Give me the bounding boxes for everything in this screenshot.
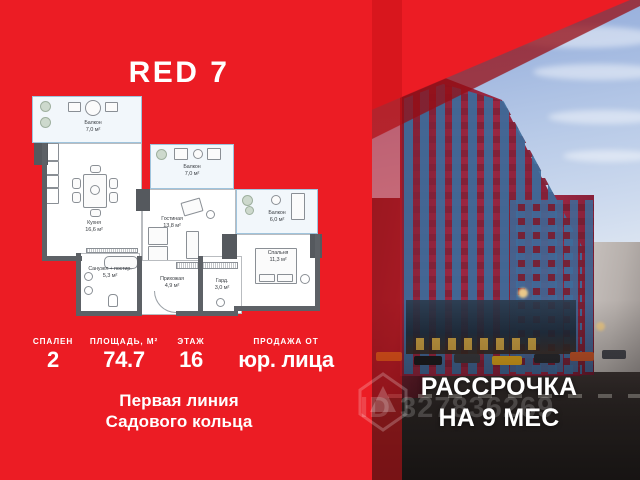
- chair-icon: [105, 102, 118, 112]
- room-label-hallway: Прихожая 4,9 м²: [146, 276, 198, 291]
- interior-wall: [198, 256, 203, 312]
- room-label-balcony-3: Балкон 6,0 м²: [250, 210, 304, 225]
- armchair-icon: [174, 148, 188, 160]
- room-area: 6,0 м²: [250, 217, 304, 225]
- room-label-wardrobe: Гард. 3,0 м²: [200, 278, 244, 293]
- chair-icon: [90, 209, 101, 217]
- fixture-icon: [216, 298, 225, 307]
- tagline: Первая линия Садового кольца: [0, 390, 358, 432]
- chair-icon: [109, 178, 118, 189]
- tv-unit-icon: [186, 231, 199, 259]
- chair-icon: [109, 192, 118, 203]
- room-name: Балкон: [165, 164, 219, 171]
- table-icon: [271, 195, 281, 205]
- interior-wall: [76, 253, 81, 315]
- plant-icon: [242, 195, 253, 206]
- room-name: Прихожая: [146, 276, 198, 283]
- toilet-icon: [108, 294, 118, 307]
- exterior-wall: [234, 306, 320, 311]
- room-area: 13,8 м²: [144, 223, 200, 231]
- interior-wall: [176, 311, 238, 316]
- wall-pillar: [222, 234, 237, 259]
- stat-floor: ЭТАЖ 16: [155, 336, 227, 372]
- room-area: 16,6 м²: [66, 227, 122, 235]
- decor-icon: [206, 210, 215, 219]
- street-lamp-glow: [518, 288, 528, 298]
- table-icon: [193, 149, 203, 159]
- stat-caption: ПРОДАЖА ОТ: [222, 336, 350, 347]
- interior-wall: [137, 256, 142, 316]
- table-icon: [85, 100, 101, 116]
- advert-canvas: RED 7 Балкон 7,0 м² Балкон 7,0 м²: [0, 0, 640, 480]
- watermark-id: ID 327836269: [360, 392, 640, 425]
- washer-icon: [84, 286, 93, 295]
- room-area: 7,0 м²: [66, 127, 120, 135]
- tagline-line-1: Первая линия: [0, 390, 358, 411]
- interior-wall: [76, 311, 142, 316]
- room-area: 5,3 м²: [84, 273, 136, 281]
- stat-value: юр. лица: [222, 347, 350, 372]
- room-name: Гостиная: [144, 216, 200, 223]
- stat-value: 16: [155, 347, 227, 372]
- room-name: Кухня: [66, 220, 122, 227]
- pillow-icon: [259, 274, 275, 282]
- room-name: Спальня: [250, 250, 306, 257]
- exterior-wall: [42, 143, 47, 261]
- left-info-panel: RED 7 Балкон 7,0 м² Балкон 7,0 м²: [0, 0, 358, 480]
- stat-seller: ПРОДАЖА ОТ юр. лица: [222, 336, 350, 372]
- chair-icon: [72, 192, 81, 203]
- room-label-kitchen: Кухня 16,6 м²: [66, 220, 122, 235]
- chair-icon: [90, 165, 101, 173]
- interior-wall: [42, 256, 82, 261]
- cabinet-icon: [46, 188, 59, 204]
- chair-icon: [72, 178, 81, 189]
- room-name: Санузел + постир.: [84, 266, 136, 273]
- stove-icon: [46, 175, 59, 188]
- room-label-bathroom: Санузел + постир. 5,3 м²: [84, 266, 136, 281]
- floor-plan: Балкон 7,0 м² Балкон 7,0 м² Балкон 6,0 м…: [26, 96, 332, 321]
- plant-icon: [40, 117, 51, 128]
- room-label-balcony-2: Балкон 7,0 м²: [165, 164, 219, 179]
- room-label-balcony-1: Балкон 7,0 м²: [66, 120, 120, 135]
- pillow-icon: [277, 274, 293, 282]
- armchair-icon: [207, 148, 221, 160]
- stat-caption: ЭТАЖ: [155, 336, 227, 347]
- room-area: 7,0 м²: [165, 171, 219, 179]
- room-name: Балкон: [66, 120, 120, 127]
- plate-icon: [90, 185, 100, 195]
- room-label-bedroom: Спальня 11,3 м²: [250, 250, 306, 265]
- stats-row: СПАЛЕН 2 ПЛОЩАДЬ, м² 74.7 ЭТАЖ 16 ПРОДАЖ…: [0, 336, 358, 382]
- room-label-living: Гостиная 13,8 м²: [144, 216, 200, 231]
- room-name: Гард.: [200, 278, 244, 285]
- brand-logo: RED 7: [0, 56, 358, 90]
- wall-pillar: [136, 189, 150, 211]
- room-area: 4,9 м²: [146, 283, 198, 291]
- nightstand-icon: [300, 274, 310, 284]
- plant-icon: [156, 149, 167, 160]
- tagline-line-2: Садового кольца: [0, 411, 358, 432]
- room-name: Балкон: [250, 210, 304, 217]
- room-area: 11,3 м²: [250, 257, 306, 265]
- exterior-wall: [315, 234, 320, 310]
- wardrobe-shelf-icon: [176, 262, 238, 269]
- room-area: 3,0 м²: [200, 285, 244, 293]
- chair-icon: [68, 102, 81, 112]
- plant-icon: [40, 101, 51, 112]
